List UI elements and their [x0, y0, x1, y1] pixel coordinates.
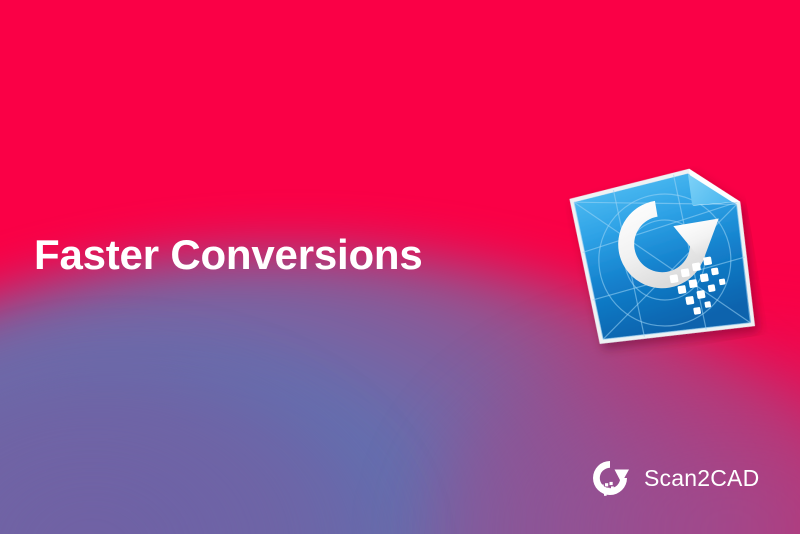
- scan2cad-document-convert-icon: [562, 158, 769, 363]
- brand-name-label: Scan2CAD: [644, 465, 759, 492]
- brand-logo[interactable]: Scan2CAD: [588, 456, 759, 500]
- circular-arrow-icon: [588, 456, 632, 500]
- promo-banner: Faster Conversions: [0, 0, 800, 534]
- page-title: Faster Conversions: [34, 232, 423, 278]
